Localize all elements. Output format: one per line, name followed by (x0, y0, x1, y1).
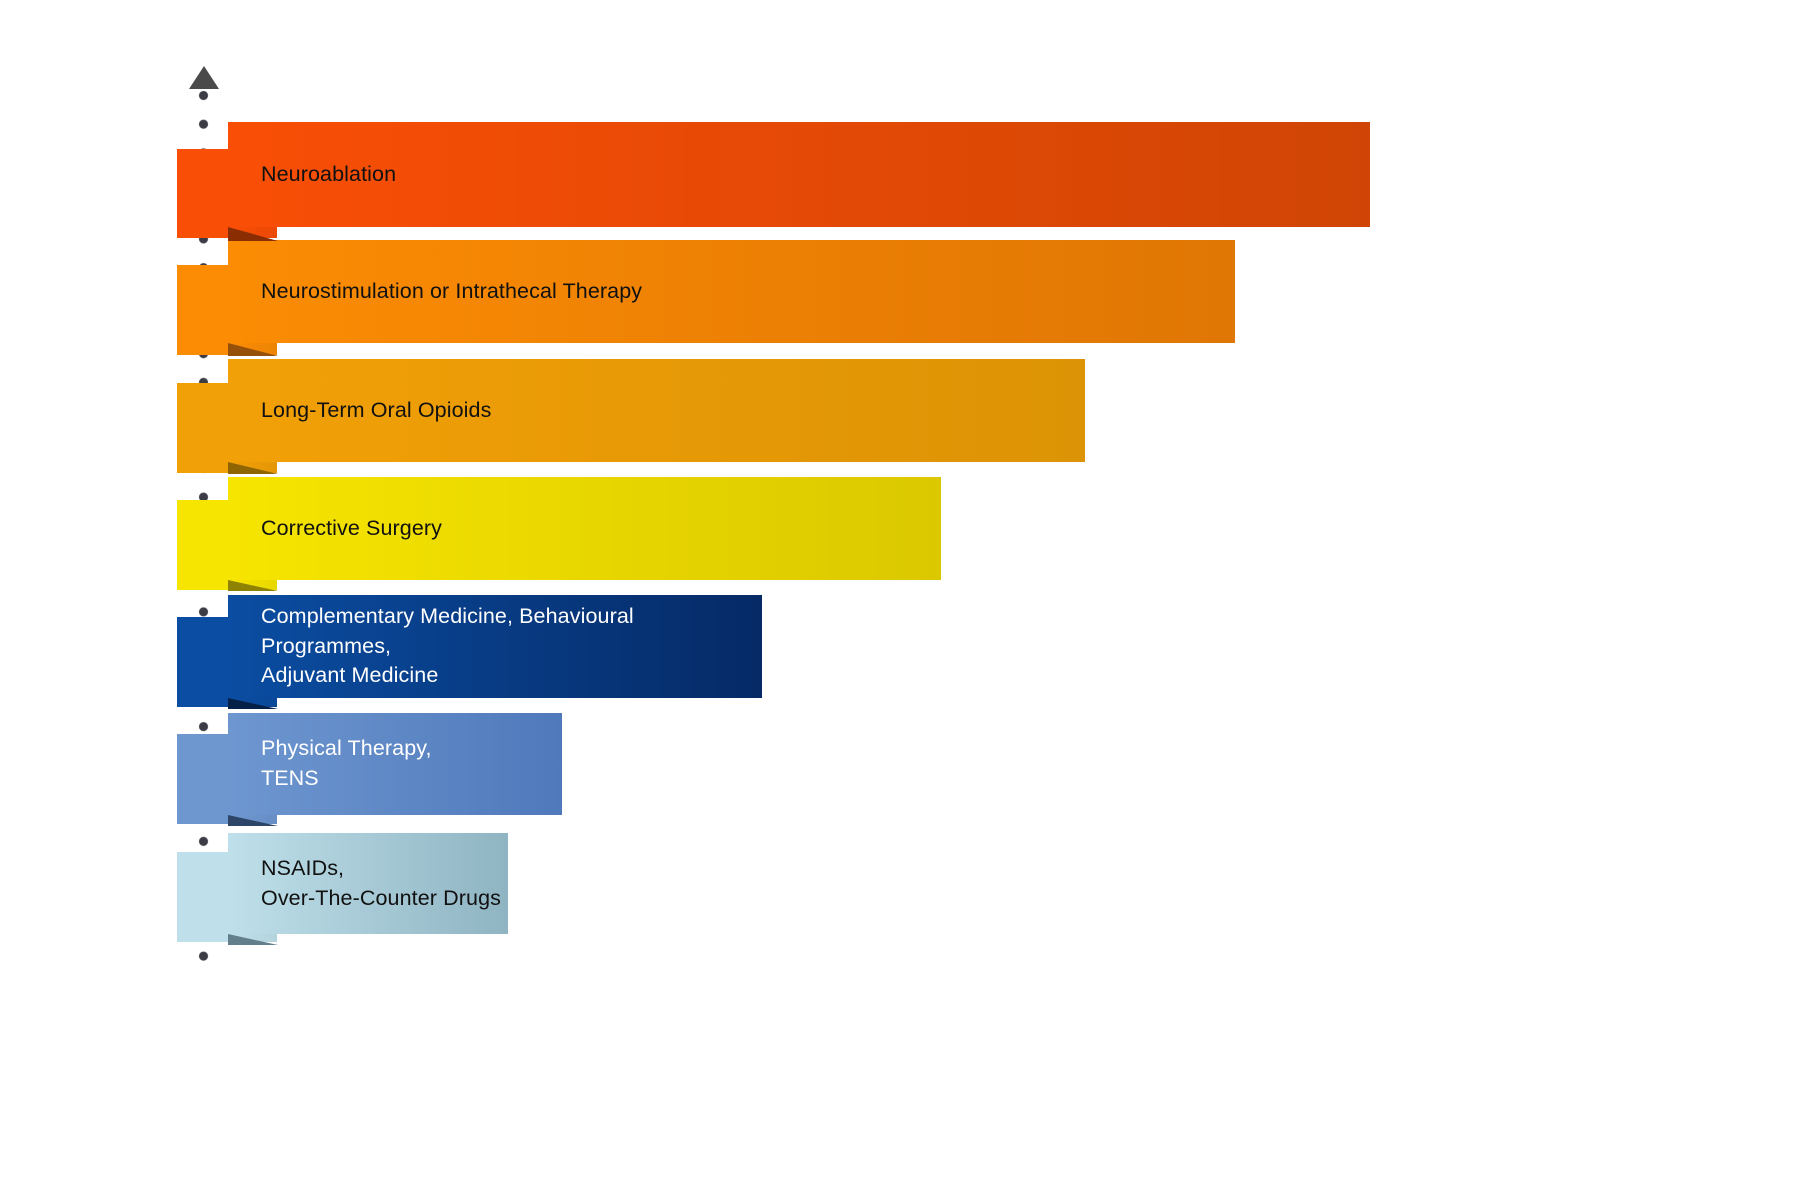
step-fold-shadow-nsaids-otc-drugs (228, 934, 278, 945)
pyramid-ladder-figure: NeuroablationNeurostimulation or Intrath… (0, 0, 1800, 1200)
step-label-long-term-oral-opioids: Long-Term Oral Opioids (228, 396, 491, 426)
step-label-neuroablation: Neuroablation (228, 160, 396, 190)
step-label-corrective-surgery: Corrective Surgery (228, 514, 442, 544)
step-bar-neuroablation[interactable]: Neuroablation (228, 122, 1370, 227)
step-bar-neurostimulation-intrathecal[interactable]: Neurostimulation or Intrathecal Therapy (228, 240, 1235, 343)
step-bar-physical-therapy-tens[interactable]: Physical Therapy, TENS (228, 713, 562, 815)
step-fold-shadow-neurostimulation-intrathecal (228, 343, 278, 356)
step-fold-shadow-corrective-surgery (228, 580, 278, 591)
step-label-neurostimulation-intrathecal: Neurostimulation or Intrathecal Therapy (228, 277, 642, 307)
step-label-complementary-behavioural-adjuvant: Complementary Medicine, Behavioural Prog… (228, 602, 762, 691)
step-bar-complementary-behavioural-adjuvant[interactable]: Complementary Medicine, Behavioural Prog… (228, 595, 762, 698)
step-fold-shadow-physical-therapy-tens (228, 815, 278, 826)
arrow-up-icon (189, 66, 219, 89)
step-fold-shadow-long-term-oral-opioids (228, 462, 278, 474)
step-fold-shadow-complementary-behavioural-adjuvant (228, 698, 278, 709)
step-label-physical-therapy-tens: Physical Therapy, TENS (228, 734, 432, 793)
step-label-nsaids-otc-drugs: NSAIDs, Over-The-Counter Drugs (228, 854, 501, 913)
step-bar-long-term-oral-opioids[interactable]: Long-Term Oral Opioids (228, 359, 1085, 462)
step-fold-shadow-neuroablation (228, 227, 278, 241)
step-bar-nsaids-otc-drugs[interactable]: NSAIDs, Over-The-Counter Drugs (228, 833, 508, 934)
step-bar-corrective-surgery[interactable]: Corrective Surgery (228, 477, 941, 580)
